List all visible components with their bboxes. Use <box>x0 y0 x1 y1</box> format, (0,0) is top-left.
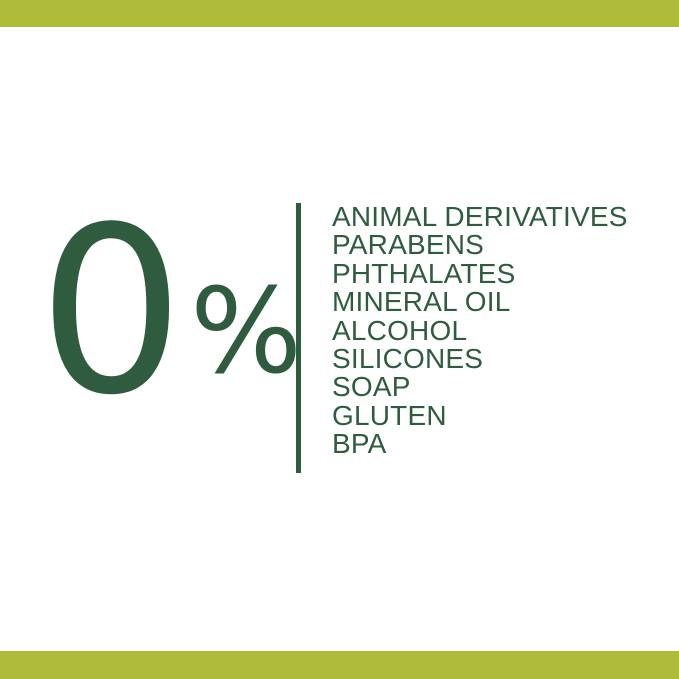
list-item: ALCOHOL <box>332 317 662 345</box>
percent-symbol: % <box>190 272 302 390</box>
list-item: BPA <box>332 430 662 458</box>
list-item: GLUTEN <box>332 402 662 430</box>
list-item: SILICONES <box>332 345 662 373</box>
list-item: SOAP <box>332 373 662 401</box>
top-accent-bar <box>0 0 679 27</box>
list-item: PHTHALATES <box>332 260 662 288</box>
list-item: ANIMAL DERIVATIVES <box>332 203 662 231</box>
bottom-accent-bar <box>0 651 679 679</box>
claims-content: 0 % ANIMAL DERIVATIVES PARABENS PHTHALAT… <box>0 190 679 490</box>
zero-percent-headline: 0 % <box>38 210 288 430</box>
free-from-list: ANIMAL DERIVATIVES PARABENS PHTHALATES M… <box>332 203 662 459</box>
vertical-divider <box>296 203 301 473</box>
list-item: MINERAL OIL <box>332 288 662 316</box>
list-item: PARABENS <box>332 231 662 259</box>
zero-digit: 0 <box>38 198 178 428</box>
product-claims-poster: 0 % ANIMAL DERIVATIVES PARABENS PHTHALAT… <box>0 0 679 679</box>
